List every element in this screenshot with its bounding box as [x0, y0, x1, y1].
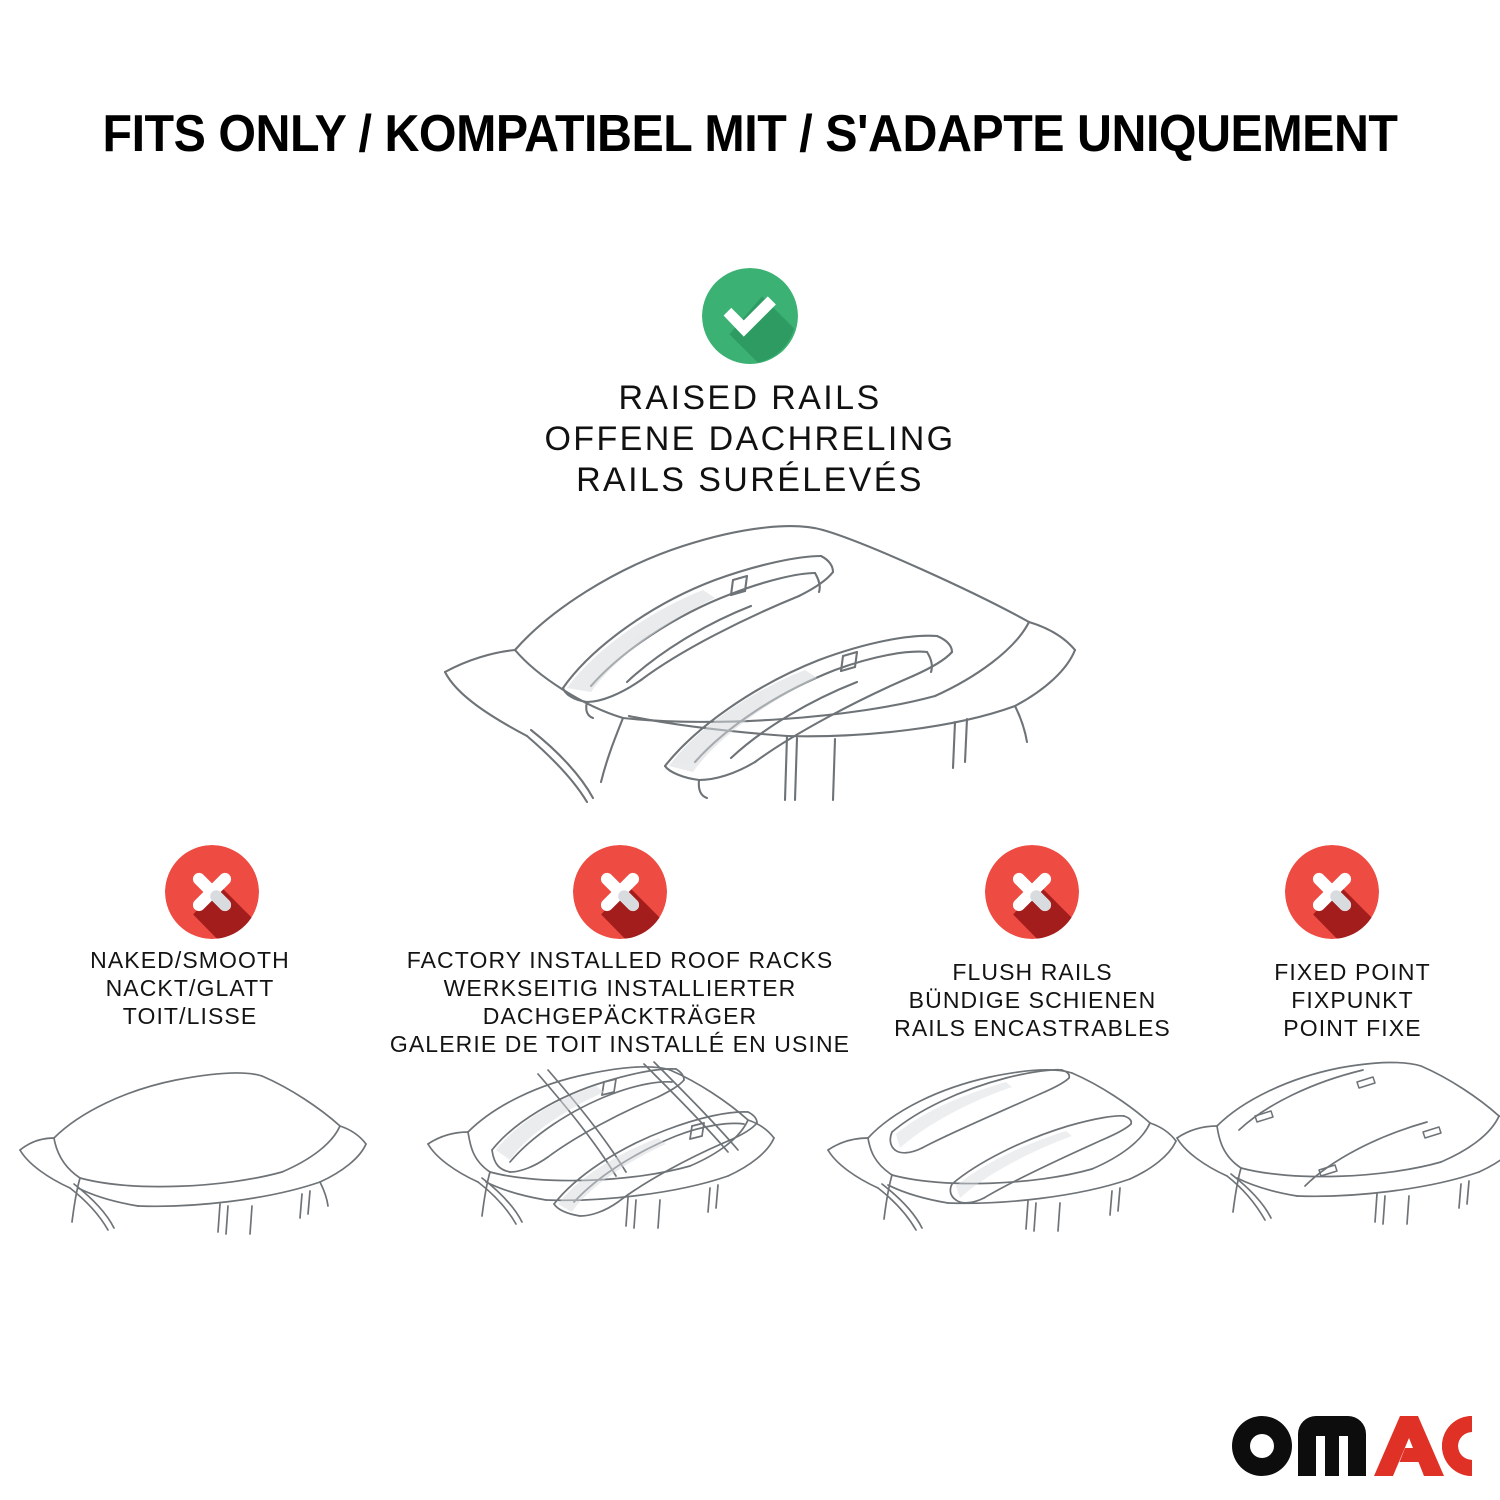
- incompatible-label: FIXED POINT FIXPUNKT POINT FIXE: [1205, 958, 1500, 1042]
- incompatible-label: FACTORY INSTALLED ROOF RACKS WERKSEITIG …: [380, 946, 860, 1058]
- incompatible-label: NAKED/SMOOTH NACKT/GLATT TOIT/LISSE: [0, 946, 380, 1030]
- incompatible-line-en: FIXED POINT: [1205, 958, 1500, 986]
- car-roof-factory-roof-racks-illustration: [408, 1060, 788, 1275]
- compatible-line-en: RAISED RAILS: [350, 378, 1150, 419]
- incompatible-line-de: FIXPUNKT: [1205, 986, 1500, 1014]
- incompatible-line-fr: RAILS ENCASTRABLES: [860, 1014, 1205, 1042]
- compatible-line-fr: RAILS SURÉLEVÉS: [350, 460, 1150, 501]
- incompatible-line-fr: POINT FIXE: [1205, 1014, 1500, 1042]
- car-roof-naked-smooth-illustration: [18, 1060, 373, 1275]
- incompatible-line-fr: GALERIE DE TOIT INSTALLÉ EN USINE: [380, 1030, 860, 1058]
- page-title: FITS ONLY / KOMPATIBEL MIT / S'ADAPTE UN…: [53, 103, 1448, 165]
- incompatible-line-de-2: DACHGEPÄCKTRÄGER: [380, 1002, 860, 1030]
- car-roof-raised-rails-illustration: [415, 500, 1085, 830]
- incompatible-line-de-1: WERKSEITIG INSTALLIERTER: [380, 974, 860, 1002]
- compatible-line-de: OFFENE DACHRELING: [350, 419, 1150, 460]
- omac-logo: OMAC: [1226, 1410, 1472, 1478]
- cross-circle-icon: [985, 845, 1079, 939]
- compatible-label: RAISED RAILS OFFENE DACHRELING RAILS SUR…: [350, 378, 1150, 501]
- incompatible-line-fr: TOIT/LISSE: [0, 1002, 380, 1030]
- check-circle-icon: [702, 268, 798, 364]
- car-roof-flush-rails-illustration: [800, 1060, 1180, 1275]
- cross-circle-icon: [1285, 845, 1379, 939]
- incompatible-line-en: NAKED/SMOOTH: [0, 946, 380, 974]
- cross-circle-icon: [165, 845, 259, 939]
- car-roof-fixed-point-illustration: [1155, 1060, 1500, 1275]
- incompatible-line-en: FLUSH RAILS: [860, 958, 1205, 986]
- cross-circle-icon: [573, 845, 667, 939]
- incompatible-line-de: NACKT/GLATT: [0, 974, 380, 1002]
- incompatible-line-de: BÜNDIGE SCHIENEN: [860, 986, 1205, 1014]
- incompatible-label: FLUSH RAILS BÜNDIGE SCHIENEN RAILS ENCAS…: [860, 958, 1205, 1042]
- incompatible-line-en: FACTORY INSTALLED ROOF RACKS: [380, 946, 860, 974]
